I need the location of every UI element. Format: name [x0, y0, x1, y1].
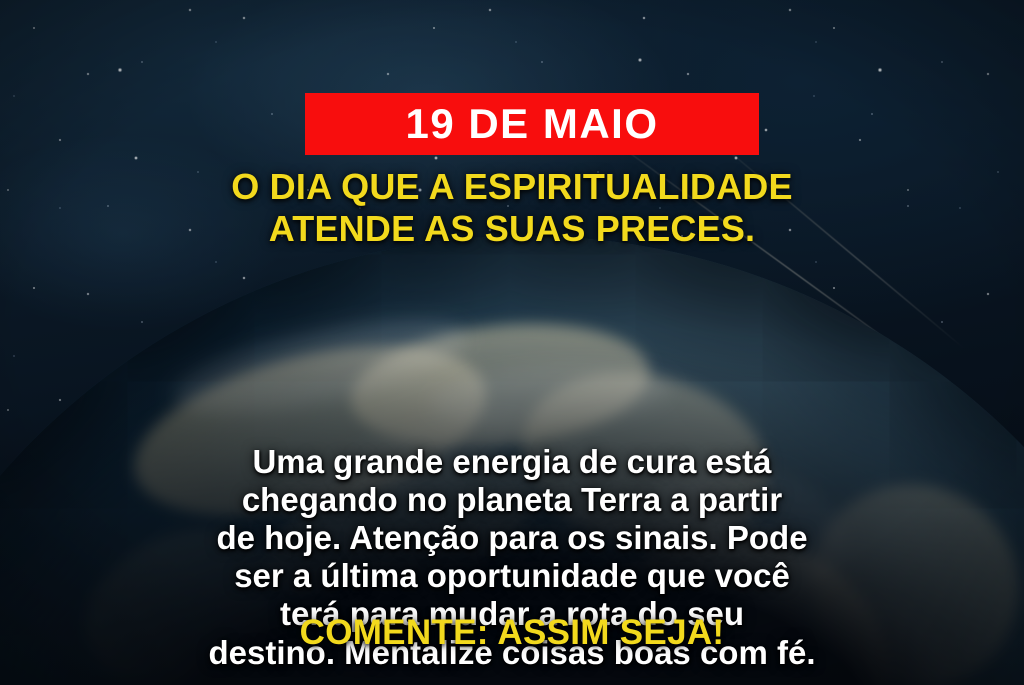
body-line-2: chegando no planeta Terra a partir	[60, 481, 964, 519]
headline-line-1: O DIA QUE A ESPIRITUALIDADE	[0, 166, 1024, 208]
call-to-action: COMENTE: ASSIM SEJA!	[0, 613, 1024, 653]
date-banner: 19 DE MAIO	[305, 93, 759, 155]
body-line-1: Uma grande energia de cura está	[60, 443, 964, 481]
headline-line-2: ATENDE AS SUAS PRECES.	[0, 208, 1024, 250]
date-banner-label: 19 DE MAIO	[405, 103, 658, 145]
poster-content: 19 DE MAIO O DIA QUE A ESPIRITUALIDADE A…	[0, 0, 1024, 685]
poster-canvas: 19 DE MAIO O DIA QUE A ESPIRITUALIDADE A…	[0, 0, 1024, 685]
headline: O DIA QUE A ESPIRITUALIDADE ATENDE AS SU…	[0, 166, 1024, 251]
cta-label: COMENTE: ASSIM SEJA!	[300, 613, 725, 652]
body-line-4: ser a última oportunidade que você	[60, 557, 964, 595]
body-line-3: de hoje. Atenção para os sinais. Pode	[60, 519, 964, 557]
